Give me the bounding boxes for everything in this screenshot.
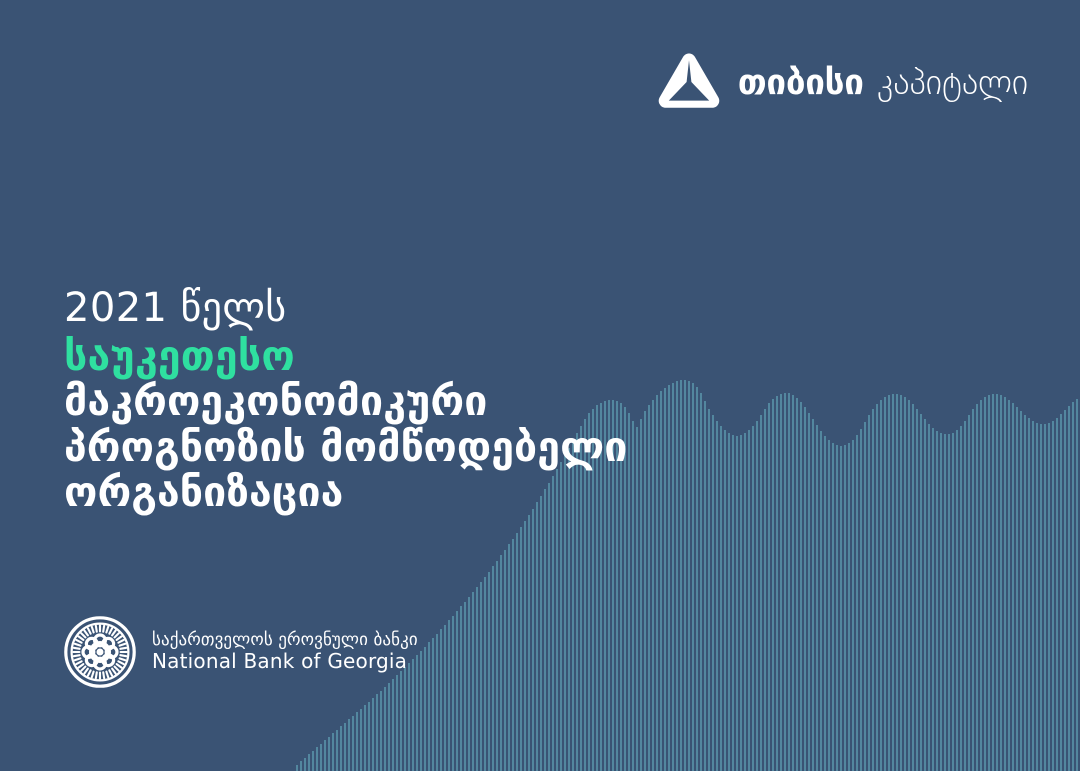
tbc-triangle-logo-icon [657,52,721,114]
bar [840,446,842,771]
seal-tooth [112,630,116,635]
bar [388,683,390,771]
bar [436,634,438,771]
bar [944,434,946,771]
bar [448,620,450,771]
bar [536,502,538,771]
bar [904,397,906,771]
bar [916,409,918,771]
headline-line-5: ორგანიზაცია [64,471,784,514]
bar [520,527,522,771]
bar [932,428,934,771]
bar [1068,406,1070,771]
bar [808,413,810,771]
bar [376,694,378,771]
bar [852,440,854,771]
seal-tooth [74,655,80,656]
bar [1020,411,1022,771]
bar [356,712,358,771]
seal-tooth [120,644,126,646]
bar [972,409,974,771]
bar [432,638,434,771]
bar [812,419,814,771]
tbc-word-secondary: კაპიტალი [877,66,1028,101]
bar [420,651,422,771]
bar [928,424,930,771]
bar [484,577,486,771]
bar [924,419,926,771]
bar [964,421,966,771]
seal-tooth [120,658,126,660]
seal-tooth [117,636,122,640]
bar [360,709,362,771]
bar [892,394,894,771]
headline-block: 2021 წელს საუკეთესო მაკროეკონომიკური პრო… [64,288,784,517]
bar [380,691,382,771]
bar [328,737,330,771]
seal-tooth [115,667,119,671]
bar [488,572,490,771]
bar [496,561,498,771]
bar [424,647,426,771]
bar [300,761,302,771]
bar [880,400,882,771]
bar [1024,415,1026,771]
seal-tooth [76,640,81,643]
seal-tooth [118,661,123,664]
seal-tooth [75,658,81,660]
bar [864,422,866,771]
nbg-rosette-seal-icon [64,616,136,688]
bar [344,723,346,771]
bar [500,555,502,771]
poster-canvas: თიბისი კაპიტალი 2021 წელს საუკეთესო მაკრ… [0,0,1080,771]
bar [848,443,850,771]
bar [336,730,338,771]
bar [392,679,394,771]
bar [1056,418,1058,771]
bar [540,496,542,771]
bar [952,433,954,771]
bar [980,400,982,771]
seal-tooth [81,667,85,671]
headline-line-3: მაკროეკონომიკური [64,380,784,423]
bar [548,483,550,771]
bar [1076,399,1078,771]
seal-tooth [96,626,97,632]
bar [512,539,514,771]
seal-tooth [78,636,83,640]
seal-tooth [88,628,91,633]
bar [828,440,830,771]
bar [976,404,978,771]
seal-tooth [109,670,112,675]
bar [948,434,950,771]
bar [384,687,386,771]
bar [1036,423,1038,771]
headline-line-accent: საუკეთესო [64,335,784,378]
bar [1008,400,1010,771]
bar [440,629,442,771]
bar [464,602,466,771]
seal-tooth [78,664,83,668]
bar [524,521,526,771]
bar [544,489,546,771]
bar [788,393,790,771]
tbc-wordmark: თიბისი კაპიტალი [738,66,1028,101]
bar [368,702,370,771]
bar [516,533,518,771]
bar [900,395,902,771]
seal-tooth [76,661,81,664]
bar [940,433,942,771]
bar [860,429,862,771]
bar [876,404,878,771]
bar [836,445,838,771]
bar [824,436,826,771]
bar [528,515,530,771]
bar [456,611,458,771]
bar [552,476,554,771]
bar [792,395,794,771]
bar [480,582,482,771]
bar [820,431,822,771]
bar [960,426,962,771]
bar [800,402,802,771]
bar [364,705,366,771]
bar [472,592,474,771]
bar [796,398,798,771]
bar [460,606,462,771]
bar [1060,414,1062,771]
bar [396,675,398,771]
bar [1052,421,1054,771]
seal-tooth [120,655,126,656]
bar [312,751,314,771]
tbc-capital-logo-lockup: თიბისი კაპიტალი [657,52,1028,114]
bar [1064,410,1066,771]
seal-tooth [115,633,119,637]
seal-tooth [106,627,108,633]
bar [912,404,914,771]
headline-line-4: პროგნოზის მომწოდებელი [64,426,784,469]
bar [1040,424,1042,771]
seal-tooth [120,648,126,649]
bar [832,443,834,771]
nbg-name-english: National Bank of Georgia [152,650,418,674]
bar [320,744,322,771]
bar [316,747,318,771]
bar [324,740,326,771]
bar [1016,407,1018,771]
bar [984,397,986,771]
seal-tooth [112,669,116,674]
bar [304,758,306,771]
seal-tooth [103,626,104,632]
bar [1028,418,1030,771]
seal-tooth [103,672,104,678]
seal-tooth [96,672,97,678]
bar [1072,402,1074,771]
bar [504,550,506,771]
national-bank-of-georgia-lockup: საქართველოს ეროვნული ბანკი National Bank… [64,616,418,688]
bar [1044,424,1046,771]
bar [468,597,470,771]
bar [920,414,922,771]
seal-tooth [84,630,88,635]
bar [816,425,818,771]
bar [1048,423,1050,771]
bar [992,394,994,771]
bar [868,415,870,771]
tbc-word-primary: თიბისი [738,66,864,101]
seal-tooth [74,648,80,649]
bar [884,397,886,771]
bar [340,726,342,771]
bar [956,430,958,771]
bar [476,587,478,771]
bar [888,395,890,771]
seal-tooth [92,627,94,633]
bar [908,400,910,771]
bar [988,395,990,771]
bar [332,733,334,771]
bar [308,754,310,771]
bar [872,409,874,771]
bar [804,407,806,771]
seal-tooth [88,670,91,675]
bar [968,415,970,771]
seal-tooth [84,669,88,674]
seal-tooth [117,664,122,668]
bar [856,435,858,771]
bar [296,765,298,771]
bar [452,616,454,771]
bar [1032,421,1034,771]
bar [372,698,374,771]
bar [1004,397,1006,771]
bar [508,544,510,771]
bar [1012,403,1014,771]
nbg-name-georgian: საქართველოს ეროვნული ბანკი [152,630,418,650]
bar [1000,395,1002,771]
seal-tooth [106,672,108,678]
headline-line-year: 2021 წელს [64,288,784,330]
seal-tooth [109,628,112,633]
bar [784,393,786,771]
nbg-name-block: საქართველოს ეროვნული ბანკი National Bank… [152,630,418,674]
bar [532,509,534,771]
bar [936,431,938,771]
bar [844,445,846,771]
seal-tooth [75,644,81,646]
bar [444,625,446,771]
bar [428,642,430,771]
seal-tooth [92,672,94,678]
seal-tooth [81,633,85,637]
bar [896,394,898,771]
bar [348,719,350,771]
bar [996,394,998,771]
bar [492,566,494,771]
seal-tooth [118,640,123,643]
bar [352,716,354,771]
